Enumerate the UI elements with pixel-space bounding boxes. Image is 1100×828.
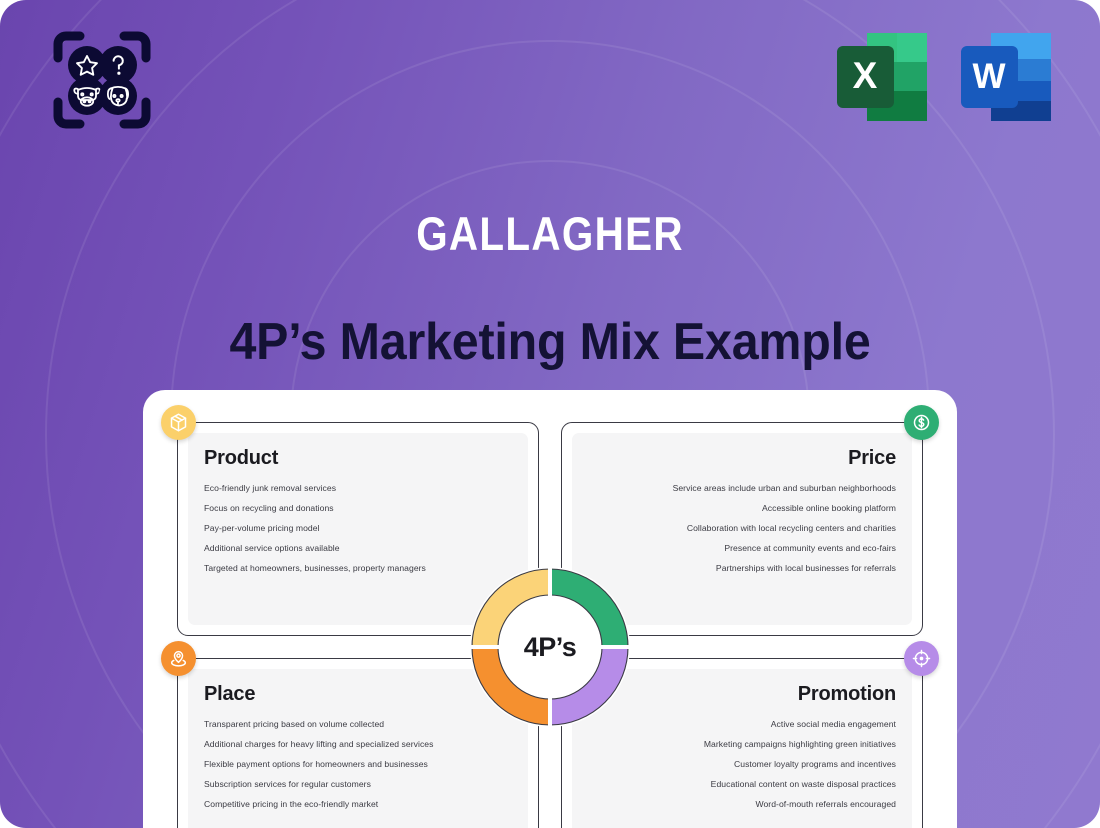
list-item: Educational content on waste disposal pr…	[588, 780, 896, 789]
quadrant-list: Eco-friendly junk removal services Focus…	[204, 484, 512, 584]
quadrant-title: Place	[204, 683, 512, 706]
list-item: Partnerships with local businesses for r…	[588, 564, 896, 573]
dollar-coin-icon	[904, 405, 939, 440]
quadrant-list: Service areas include urban and suburban…	[588, 484, 896, 584]
list-item: Presence at community events and eco-fai…	[588, 544, 896, 553]
list-item: Active social media engagement	[588, 720, 896, 729]
donut-center: 4P’s	[502, 599, 598, 695]
content-card: Product Eco-friendly junk removal servic…	[143, 390, 957, 828]
slide-canvas: X W GALLAGHER 4P’s Marketing Mix Example	[0, 0, 1100, 828]
center-donut: 4P’s	[469, 566, 631, 728]
brand-name: GALLAGHER	[77, 206, 1023, 261]
list-item: Targeted at homeowners, businesses, prop…	[204, 564, 512, 573]
list-item: Accessible online booking platform	[588, 504, 896, 513]
list-item: Subscription services for regular custom…	[204, 780, 512, 789]
list-item: Flexible payment options for homeowners …	[204, 760, 512, 769]
list-item: Transparent pricing based on volume coll…	[204, 720, 512, 729]
list-item: Customer loyalty programs and incentives	[588, 760, 896, 769]
quadrant-title: Price	[588, 447, 896, 470]
quadrant-title: Promotion	[588, 683, 896, 706]
list-item: Collaboration with local recycling cente…	[588, 524, 896, 533]
location-pin-icon	[161, 641, 196, 676]
list-item: Additional service options available	[204, 544, 512, 553]
target-crosshair-icon	[904, 641, 939, 676]
list-item: Word-of-mouth referrals encouraged	[588, 800, 896, 809]
page-title: 4P’s Marketing Mix Example	[39, 312, 1062, 372]
quadrant-list: Active social media engagement Marketing…	[588, 720, 896, 820]
quadrant-list: Transparent pricing based on volume coll…	[204, 720, 512, 820]
list-item: Marketing campaigns highlighting green i…	[588, 740, 896, 749]
list-item: Additional charges for heavy lifting and…	[204, 740, 512, 749]
scan-frame-pets-icon	[50, 28, 154, 132]
office-app-icons: X W	[834, 30, 1054, 124]
list-item: Eco-friendly junk removal services	[204, 484, 512, 493]
list-item: Focus on recycling and donations	[204, 504, 512, 513]
word-icon: W	[958, 30, 1054, 124]
quadrant-title: Product	[204, 447, 512, 470]
list-item: Competitive pricing in the eco-friendly …	[204, 800, 512, 809]
package-box-icon	[161, 405, 196, 440]
list-item: Service areas include urban and suburban…	[588, 484, 896, 493]
excel-icon: X	[834, 30, 930, 124]
list-item: Pay-per-volume pricing model	[204, 524, 512, 533]
four-p-grid: Product Eco-friendly junk removal servic…	[177, 422, 923, 828]
svg-text:X: X	[853, 55, 878, 96]
svg-text:W: W	[972, 57, 1005, 96]
donut-center-label: 4P’s	[524, 632, 577, 663]
